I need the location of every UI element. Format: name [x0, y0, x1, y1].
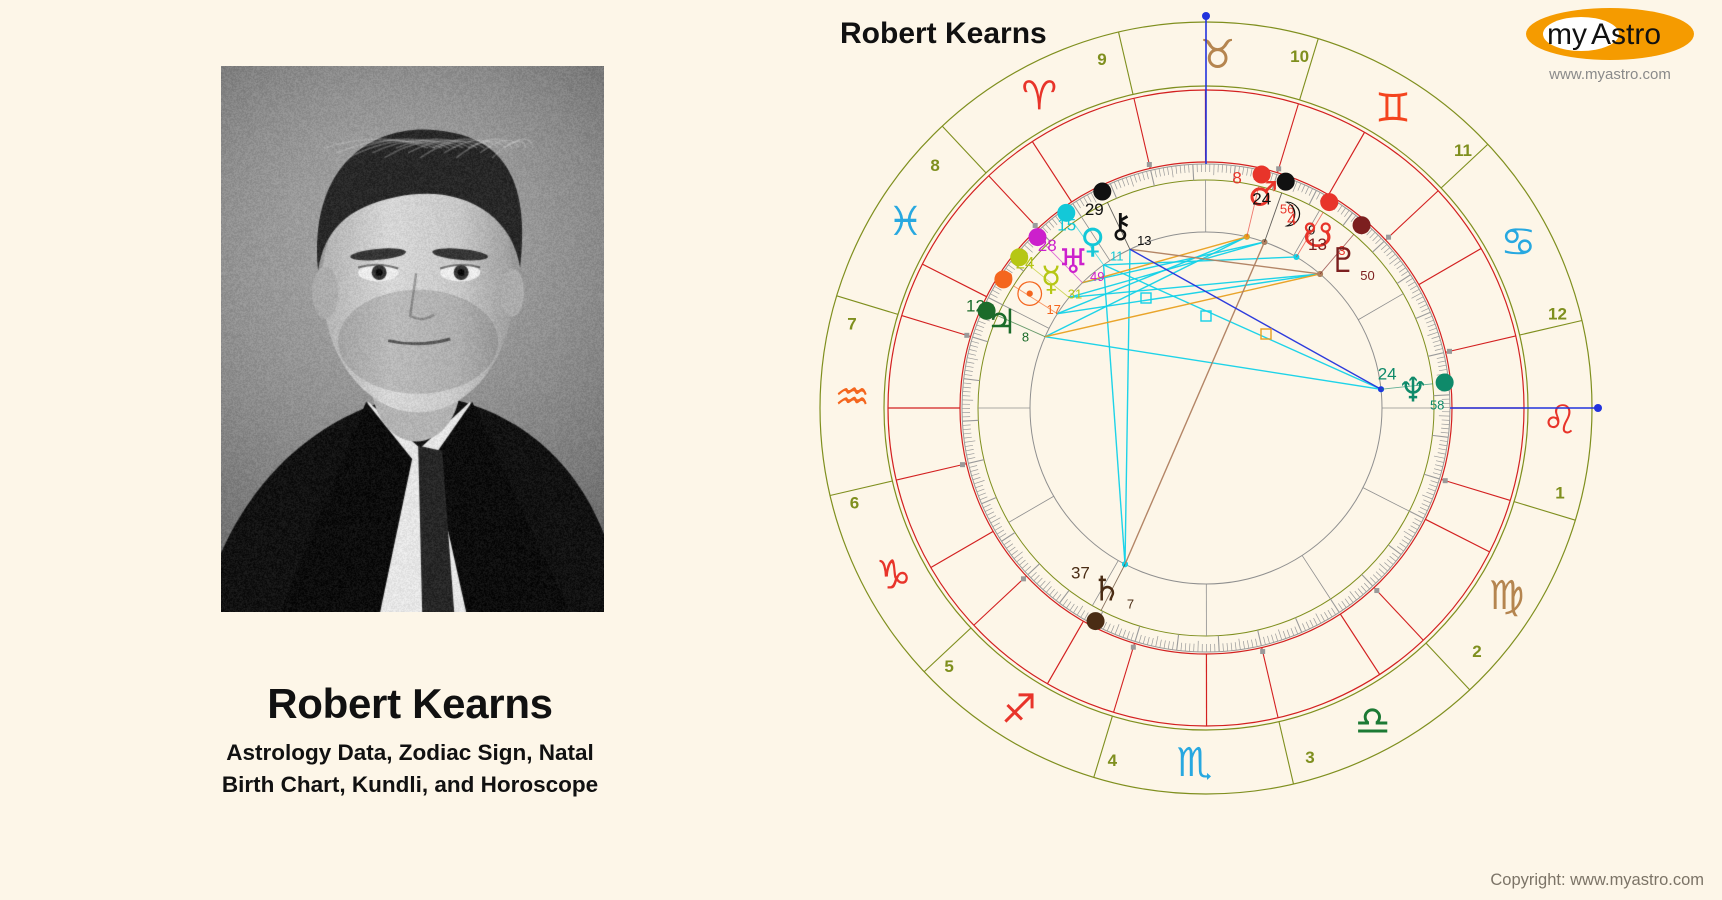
zodiac-leo-icon[interactable]: ♌ [1542, 398, 1578, 444]
planet-venus-degree: 15 [1057, 216, 1076, 235]
planet-mercury-degree: 24 [1016, 253, 1035, 272]
planet-uranus-degree: 28 [1038, 236, 1057, 255]
planet-neptune-degree: 24 [1378, 365, 1397, 384]
zodiac-virgo-icon[interactable]: ♍ [1489, 573, 1525, 619]
subtitle-line-2: Birth Chart, Kundli, and Horoscope [0, 769, 820, 801]
zodiac-scorpio-icon[interactable]: ♏ [1176, 740, 1212, 786]
house-number-5: 5 [944, 657, 953, 676]
planet-moon-degree: 24 [1252, 190, 1271, 209]
zodiac-cancer-icon[interactable]: ♋ [1500, 219, 1536, 265]
zodiac-gemini-icon[interactable]: ♊ [1375, 85, 1411, 131]
house-number-7: 7 [847, 314, 856, 333]
planet-pluto-icon[interactable]: ♇ [1328, 241, 1358, 281]
planet-marker-south-node[interactable] [1320, 193, 1338, 211]
planet-uranus-minute: 49 [1090, 269, 1104, 284]
planet-marker-moon[interactable] [1277, 173, 1295, 191]
house-cusps [888, 90, 1524, 726]
planet-jupiter-minute: 8 [1022, 330, 1029, 345]
natal-chart-wheel[interactable]: ♈♉♊♋♌♍♎♏♐♑♒♓ 123456789101112 ♂856☽249☋43… [806, 8, 1606, 808]
planet-chiron-minute: 13 [1137, 233, 1151, 248]
planet-jupiter-degree: 12 [966, 297, 985, 316]
planet-mercury-minute: 31 [1068, 286, 1082, 301]
planet-saturn-degree: 37 [1071, 563, 1090, 582]
zodiac-pisces-icon[interactable]: ♓ [888, 199, 924, 245]
planet-pluto-minute: 50 [1360, 268, 1374, 283]
profile-panel: Robert Kearns Astrology Data, Zodiac Sig… [0, 0, 720, 900]
house-number-12: 12 [1548, 304, 1567, 323]
portrait-photo [221, 66, 604, 612]
planet-marker-chiron[interactable] [1093, 183, 1111, 201]
planet-marker-neptune[interactable] [1436, 373, 1454, 391]
house-number-10: 10 [1290, 47, 1309, 66]
page-title: Robert Kearns [0, 680, 820, 728]
house-number-1: 1 [1555, 484, 1564, 503]
planet-saturn-icon[interactable]: ♄ [1091, 569, 1121, 609]
page-subtitle: Astrology Data, Zodiac Sign, Natal Birth… [0, 737, 820, 801]
subtitle-line-1: Astrology Data, Zodiac Sign, Natal [0, 737, 820, 769]
zodiac-sagittarius-icon[interactable]: ♐ [1001, 687, 1037, 733]
house-number-4: 4 [1108, 751, 1118, 770]
planet-marker-pluto[interactable] [1353, 216, 1371, 234]
planet-venus-icon[interactable]: ♀ [1080, 222, 1105, 262]
copyright-notice: Copyright: www.myastro.com [1490, 871, 1704, 890]
zodiac-libra-icon[interactable]: ♎ [1355, 698, 1391, 744]
planet-sun-degree: 19 [994, 269, 1013, 288]
planet-neptune-minute: 58 [1430, 398, 1444, 413]
angle-degree-mc: 2°6' [1178, 8, 1207, 12]
planet-sun-minute: 17 [1046, 302, 1060, 317]
house-number-6: 6 [850, 494, 859, 513]
zodiac-aries-icon[interactable]: ♈ [1021, 74, 1057, 120]
portrait-canvas [221, 66, 604, 612]
planet-marker-saturn[interactable] [1087, 612, 1105, 630]
house-number-3: 3 [1305, 748, 1314, 767]
house-number-9: 9 [1097, 50, 1106, 69]
planet-chiron-degree: 29 [1085, 200, 1104, 219]
house-number-8: 8 [930, 156, 939, 175]
planet-mars-degree: 8 [1232, 168, 1241, 187]
planet-chiron-icon[interactable]: ⚷ [1108, 206, 1133, 246]
zodiac-aquarius-icon[interactable]: ♒ [834, 374, 870, 420]
planet-jupiter-icon[interactable]: ♃ [986, 303, 1016, 343]
planet-pluto-degree: 13 [1308, 235, 1327, 254]
zodiac-capricorn-icon[interactable]: ♑ [876, 553, 912, 599]
planet-south-node-degree: 4 [1287, 210, 1296, 229]
zodiac-taurus-icon[interactable]: ♉ [1200, 32, 1236, 78]
house-number-2: 2 [1472, 642, 1481, 661]
planet-venus-minute: 11 [1110, 249, 1124, 264]
planet-saturn-minute: 7 [1127, 596, 1134, 611]
planet-neptune-icon[interactable]: ♆ [1398, 371, 1428, 411]
house-number-11: 11 [1454, 141, 1472, 160]
